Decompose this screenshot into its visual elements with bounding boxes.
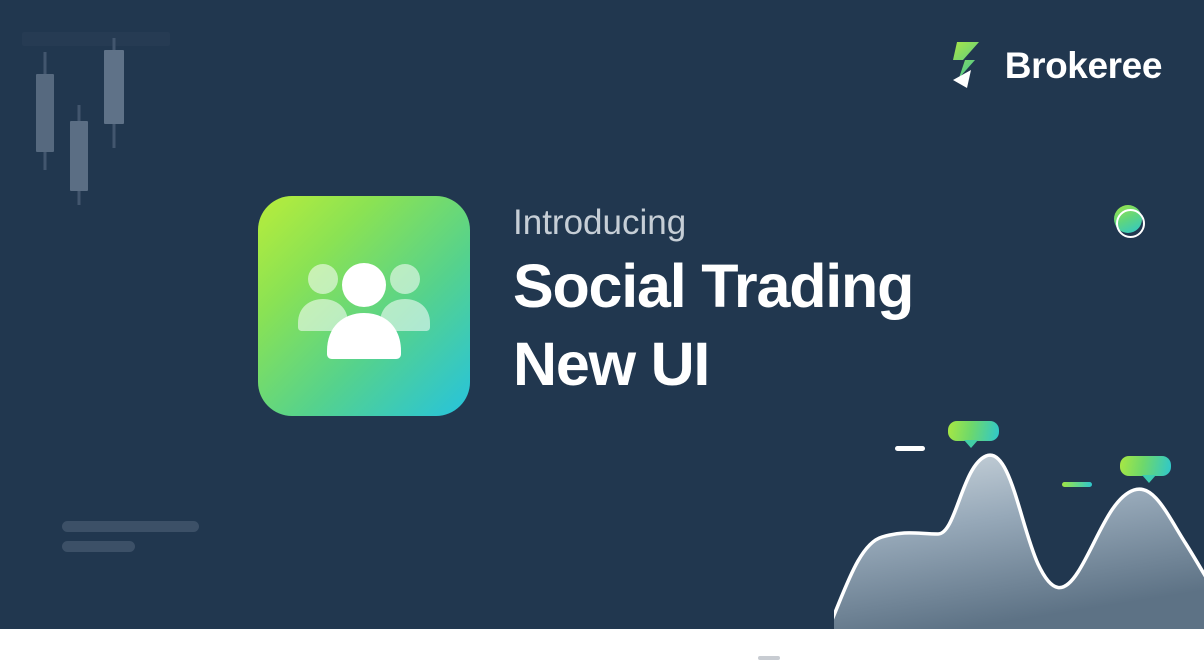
promo-banner: Brokeree — [0, 0, 1204, 629]
candlestick-body — [104, 50, 124, 124]
chart-tooltip-bubble — [1120, 456, 1171, 476]
tooltip-pointer — [1142, 475, 1156, 483]
chart-tooltip-bubble — [948, 421, 999, 441]
tooltip-body — [948, 421, 999, 441]
hero-text-block: Introducing Social Trading New UI — [513, 196, 913, 403]
brokeree-chevron-logo-icon — [949, 40, 991, 90]
gradient-ring-circle-icon — [1114, 205, 1147, 238]
white-ring — [1116, 209, 1145, 238]
skeleton-bar-long — [62, 521, 199, 532]
app-icon-tile — [258, 196, 470, 416]
eyebrow-text: Introducing — [513, 204, 913, 243]
tooltip-body — [1120, 456, 1171, 476]
brand-logo: Brokeree — [949, 40, 1162, 90]
people-group-icon — [294, 251, 434, 361]
page-bottom-strip — [0, 629, 1204, 663]
area-chart-icon — [834, 394, 1204, 629]
decorative-top-band — [22, 32, 170, 46]
skeleton-bar-short — [62, 541, 135, 552]
candlestick-body — [36, 74, 54, 152]
bottom-dash-marker — [758, 656, 780, 660]
candlestick-body — [70, 121, 88, 191]
white-dash-marker — [895, 446, 925, 451]
page-title: Social Trading New UI — [513, 247, 913, 403]
candlestick-bar — [104, 38, 124, 148]
candlestick-bar — [70, 105, 88, 205]
tooltip-pointer — [964, 440, 978, 448]
brand-name: Brokeree — [1005, 47, 1162, 84]
gradient-dash-marker — [1062, 482, 1092, 487]
candlestick-bar — [36, 52, 54, 170]
hero-section: Introducing Social Trading New UI — [258, 196, 913, 416]
